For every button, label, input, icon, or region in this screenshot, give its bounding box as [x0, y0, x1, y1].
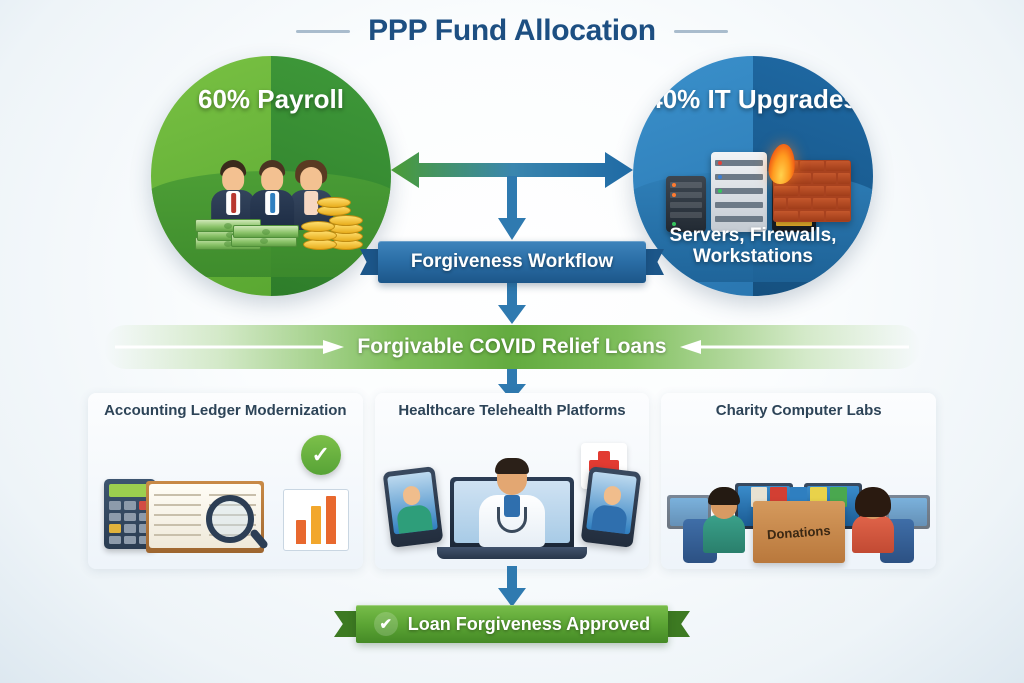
arrow-right-inward-icon [115, 340, 345, 354]
use-case-panels: Accounting Ledger Modernization [88, 393, 936, 569]
arrow-down-to-approval-icon [497, 566, 527, 608]
arrow-down-to-relief-icon [497, 283, 527, 325]
magnifier-icon [206, 495, 254, 543]
student-right [850, 491, 896, 553]
approval-ribbon-body: ✔ Loan Forgiveness Approved [356, 605, 668, 643]
gold-coins-icon [299, 188, 375, 250]
use-case-panel-accounting[interactable]: Accounting Ledger Modernization [88, 393, 363, 569]
use-case-panel-charity[interactable]: Charity Computer Labs [661, 393, 936, 569]
allocation-circle-payroll: 60% Payroll [151, 56, 391, 296]
approved-check-icon: ✓ [301, 435, 341, 475]
payroll-percent-label: 60% Payroll [151, 84, 391, 115]
it-sublabel: Servers, Firewalls, Workstations [633, 225, 873, 268]
donations-box: Donations [753, 501, 845, 563]
bar-chart-icon [283, 489, 349, 551]
panel-title-charity: Charity Computer Labs [661, 402, 936, 420]
tablet-patient-right [581, 466, 642, 548]
it-percent-label: 40% IT Upgrades [633, 84, 873, 115]
calculator-ledger-icon: ✓ [88, 441, 363, 565]
approval-ribbon-label: Loan Forgiveness Approved [408, 614, 650, 635]
workflow-banner-label: Forgiveness Workflow [411, 251, 613, 273]
forgivable-relief-bar[interactable]: Forgivable COVID Relief Loans [104, 325, 920, 369]
page-title: PPP Fund Allocation [368, 14, 656, 48]
doctor-avatar [477, 461, 547, 547]
cash-stack-icon [195, 210, 299, 250]
use-case-panel-telehealth[interactable]: Healthcare Telehealth Platforms [375, 393, 650, 569]
title-rule-right [674, 30, 728, 33]
title-rule-left [296, 30, 350, 33]
check-icon: ✔ [374, 612, 398, 636]
forgiveness-workflow-banner[interactable]: Forgiveness Workflow [378, 241, 646, 283]
allocation-circle-it: 40% IT Upgrades Servers, Firewalls, Work… [633, 56, 873, 296]
page-title-row: PPP Fund Allocation [0, 14, 1024, 48]
telehealth-icon [375, 441, 650, 565]
workflow-ribbon-body: Forgiveness Workflow [378, 241, 646, 283]
loan-forgiveness-approved-ribbon[interactable]: ✔ Loan Forgiveness Approved [356, 605, 668, 643]
donations-box-label: Donations [766, 522, 830, 541]
student-left [701, 491, 747, 553]
panel-title-accounting: Accounting Ledger Modernization [88, 402, 363, 420]
panel-title-telehealth: Healthcare Telehealth Platforms [375, 402, 650, 420]
tablet-patient-left [382, 466, 443, 548]
arrow-left-inward-icon [679, 340, 909, 354]
relief-bar-label: Forgivable COVID Relief Loans [357, 335, 666, 359]
arrow-down-to-workflow-icon [497, 176, 527, 242]
